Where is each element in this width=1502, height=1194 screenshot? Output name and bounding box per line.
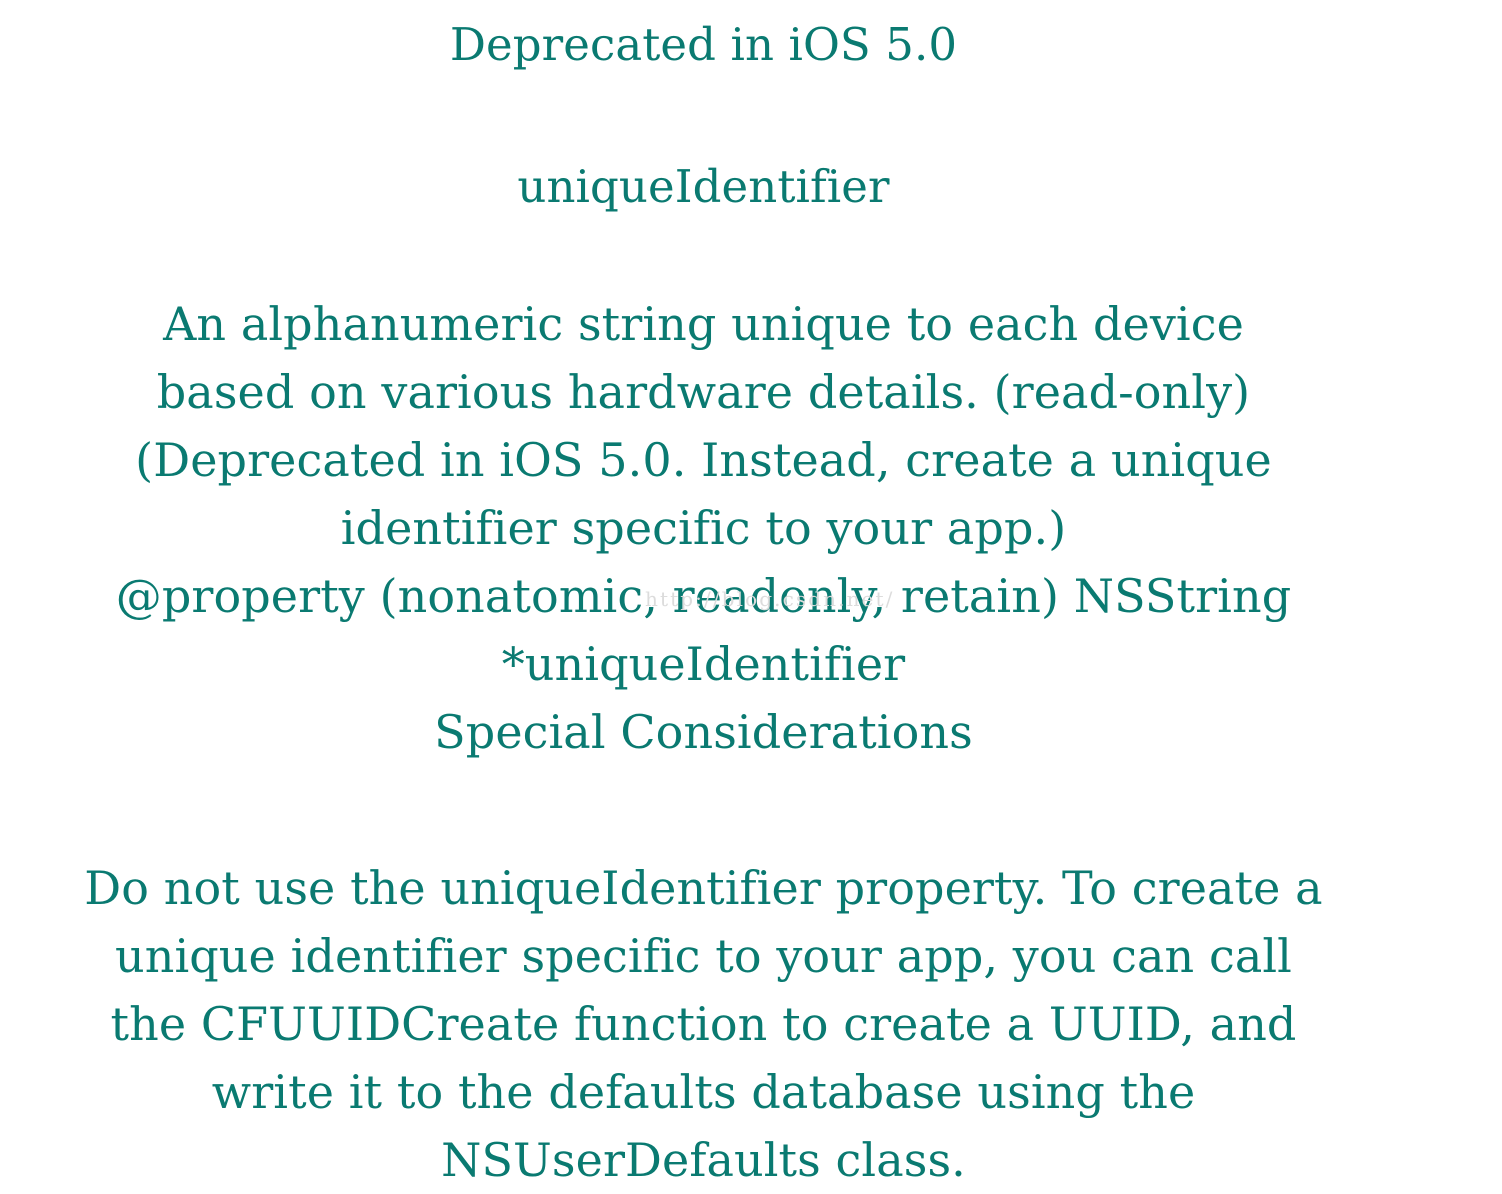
special-considerations-line: write it to the defaults database using … bbox=[72, 1058, 1335, 1126]
abstract-line: (Deprecated in iOS 5.0. Instead, create … bbox=[72, 426, 1335, 494]
deprecation-heading: Deprecated in iOS 5.0 bbox=[72, 0, 1335, 67]
document-page: Deprecated in iOS 5.0 uniqueIdentifier A… bbox=[0, 0, 1502, 1178]
document-body: Deprecated in iOS 5.0 uniqueIdentifier A… bbox=[72, 0, 1335, 1194]
abstract-line: @property (nonatomic, readonly, retain) … bbox=[72, 562, 1335, 630]
special-considerations-line: the CFUUIDCreate function to create a UU… bbox=[72, 990, 1335, 1058]
abstract-line: based on various hardware details. (read… bbox=[72, 358, 1335, 426]
special-considerations-line: Do not use the uniqueIdentifier property… bbox=[72, 854, 1335, 922]
abstract-line: An alphanumeric string unique to each de… bbox=[72, 290, 1335, 358]
abstract-line: identifier specific to your app.) bbox=[72, 494, 1335, 562]
abstract-line: *uniqueIdentifier bbox=[72, 630, 1335, 698]
property-abstract: An alphanumeric string unique to each de… bbox=[72, 209, 1335, 766]
property-name-heading: uniqueIdentifier bbox=[72, 67, 1335, 209]
special-considerations-heading: Special Considerations bbox=[72, 698, 1335, 766]
special-considerations-line: unique identifier specific to your app, … bbox=[72, 922, 1335, 990]
special-considerations-body: Do not use the uniqueIdentifier property… bbox=[72, 766, 1335, 1194]
special-considerations-line: NSUserDefaults class. bbox=[72, 1126, 1335, 1194]
